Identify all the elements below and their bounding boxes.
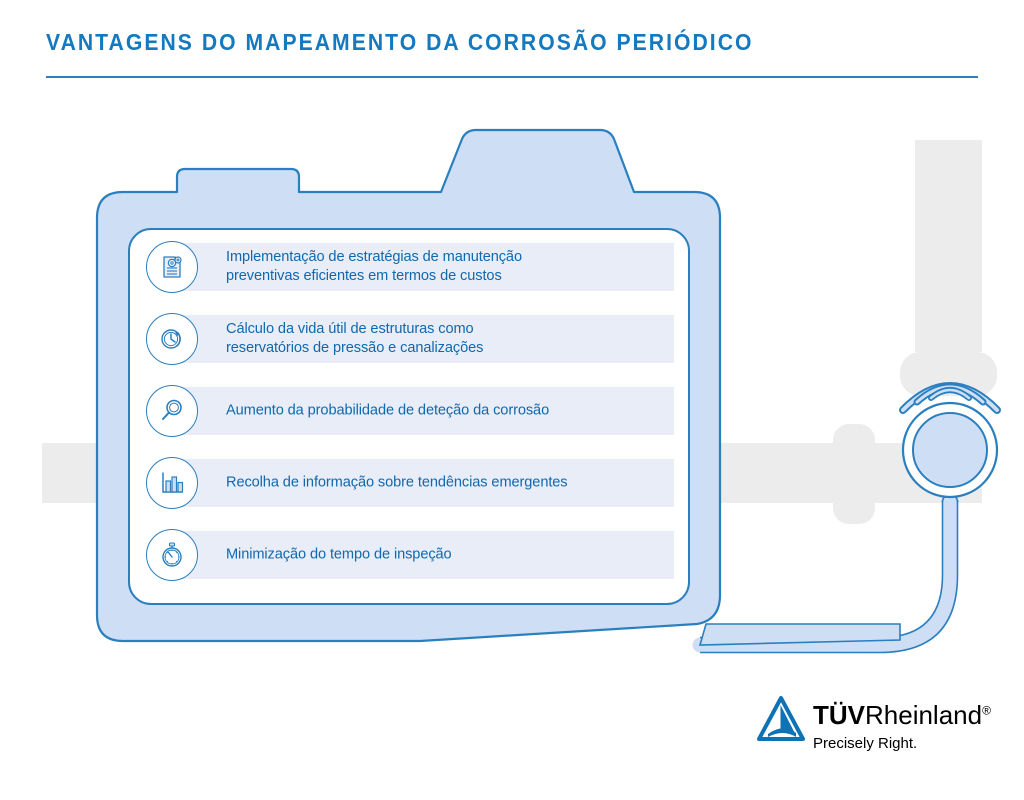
header-divider (46, 76, 978, 78)
list-item-label: Minimização do tempo de inspeção (226, 546, 452, 565)
pipe-flange (833, 424, 875, 524)
stopwatch-icon (146, 529, 198, 581)
logo-wordmark: TÜVRheinland® (813, 700, 991, 731)
pipe-vertical-riser (915, 140, 982, 352)
list-item-label: Cálculo da vida útil de estruturas como … (226, 320, 483, 358)
list-item-label: Recolha de informação sobre tendências e… (226, 474, 568, 493)
probe-head-inner (913, 413, 987, 487)
clock-lifecycle-icon (146, 313, 198, 365)
list-item: Aumento da probabilidade de deteção da c… (146, 387, 674, 435)
list-item: Cálculo da vida útil de estruturas como … (146, 315, 674, 363)
tuv-rheinland-logo: TÜVRheinland® Precisely Right. (755, 694, 995, 756)
logo-brand-regular: Rheinland (865, 700, 982, 730)
list-item: Minimização do tempo de inspeção (146, 531, 674, 579)
list-item-label: Aumento da probabilidade de deteção da c… (226, 402, 549, 421)
logo-tagline: Precisely Right. (813, 735, 917, 752)
logo-brand-bold: TÜV (813, 700, 865, 730)
document-gears-icon (146, 241, 198, 293)
benefits-list: Implementação de estratégias de manutenç… (146, 243, 674, 603)
infographic-canvas: VANTAGENS DO MAPEAMENTO DA CORROSÃO PERI… (0, 0, 1024, 800)
magnifier-icon (146, 385, 198, 437)
list-item: Implementação de estratégias de manutenç… (146, 243, 674, 291)
list-item-label: Implementação de estratégias de manutenç… (226, 248, 522, 286)
registered-mark-icon: ® (982, 703, 991, 717)
page-title: VANTAGENS DO MAPEAMENTO DA CORROSÃO PERI… (46, 29, 754, 56)
tuv-triangle-icon (755, 696, 807, 744)
list-item: Recolha de informação sobre tendências e… (146, 459, 674, 507)
bar-chart-icon (146, 457, 198, 509)
